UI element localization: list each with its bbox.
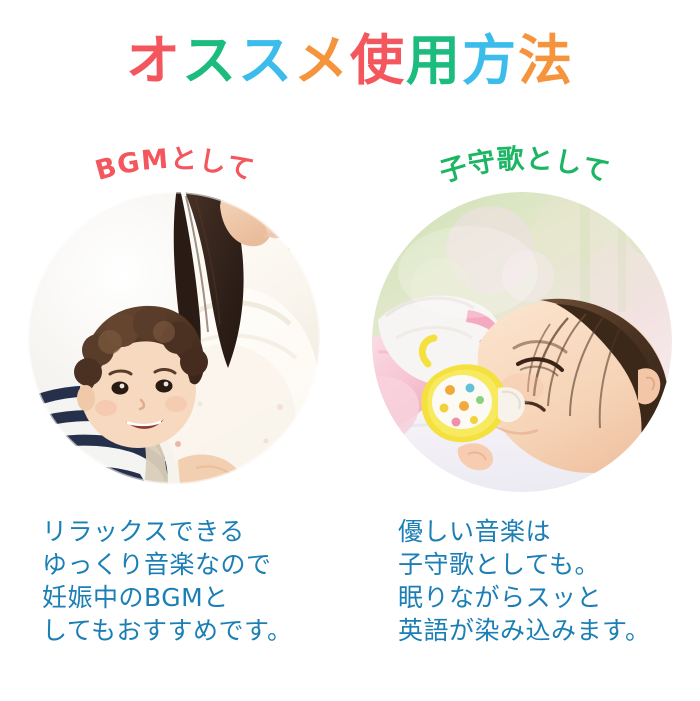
heading-lullaby-textpath: 子守歌として [436,144,614,189]
body-line: リラックスできる [42,515,293,548]
heading-lullaby-text: 子守歌として [436,144,614,189]
photo-bgm [28,192,320,484]
body-text-lullaby: 優しい音楽は 子守歌としても。 眠りながらスッと 英語が染み込みます。 [398,515,651,647]
body-text-bgm: リラックスできる ゆっくり音楽なので 妊娠中のBGMと してもおすすめです。 [42,515,293,647]
body-line: 妊娠中のBGMと [42,581,293,614]
heading-bgm-textpath: BGMとして [92,144,258,187]
body-line: ゆっくり音楽なので [42,548,293,581]
body-line: 優しい音楽は [398,515,651,548]
body-line: 英語が染み込みます。 [398,614,651,647]
photo-lullaby [372,192,672,492]
body-line: してもおすすめです。 [42,614,293,647]
body-line: 眠りながらスッと [398,581,651,614]
body-line: 子守歌としても。 [398,548,651,581]
column-bgm: BGMとして [0,0,350,701]
column-lullaby: 子守歌として [350,0,700,701]
heading-bgm-text: BGMとして [92,144,258,187]
